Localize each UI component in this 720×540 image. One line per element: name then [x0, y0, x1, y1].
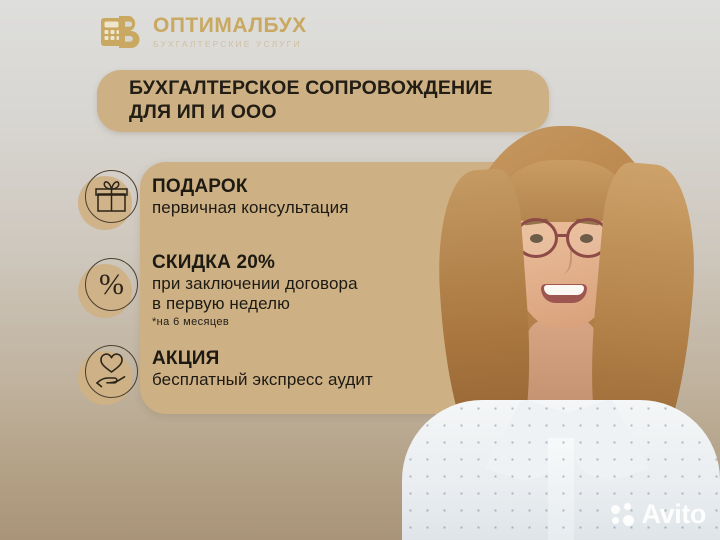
- eyeglass-bridge: [557, 234, 569, 237]
- offer-subtitle-2: в первую неделю: [152, 294, 358, 314]
- model-photo: [398, 108, 720, 540]
- offer-footnote: *на 6 месяцев: [152, 316, 358, 329]
- gift-icon: [78, 170, 138, 230]
- brand-tagline: БУХГАЛТЕРСКИЕ УСЛУГИ: [153, 40, 307, 49]
- offer-item: ПОДАРОК первичная консультация: [152, 176, 349, 218]
- offer-subtitle: первичная консультация: [152, 198, 349, 218]
- offer-title: СКИДКА 20%: [152, 252, 358, 274]
- offer-title: АКЦИЯ: [152, 348, 373, 370]
- advertisement-poster: ОПТИМАЛБУХ БУХГАЛТЕРСКИЕ УСЛУГИ БУХГАЛТЕ…: [0, 0, 720, 540]
- teeth: [544, 285, 584, 295]
- brand-logo: ОПТИМАЛБУХ БУХГАЛТЕРСКИЕ УСЛУГИ: [100, 14, 307, 50]
- headline-line-1: БУХГАЛТЕРСКОЕ СОПРОВОЖДЕНИЕ: [129, 77, 549, 101]
- offer-item: СКИДКА 20% при заключении договора в пер…: [152, 252, 358, 329]
- offer-item: АКЦИЯ бесплатный экспресс аудит: [152, 348, 373, 390]
- offer-subtitle: при заключении договора: [152, 274, 358, 294]
- calculator-b-monogram-icon: [100, 14, 144, 50]
- brand-name: ОПТИМАЛБУХ: [153, 15, 307, 36]
- avito-wordmark: Avito: [642, 501, 707, 528]
- brand-logo-text: ОПТИМАЛБУХ БУХГАЛТЕРСКИЕ УСЛУГИ: [153, 15, 307, 49]
- percent-icon: %: [78, 258, 138, 318]
- percent-glyph: %: [85, 258, 138, 311]
- avito-watermark: Avito: [611, 501, 707, 528]
- offer-title: ПОДАРОК: [152, 176, 349, 198]
- mouth: [541, 284, 587, 303]
- heart-in-hand-icon: [78, 345, 138, 405]
- offer-subtitle: бесплатный экспресс аудит: [152, 370, 373, 390]
- avito-dots-icon: [611, 503, 635, 527]
